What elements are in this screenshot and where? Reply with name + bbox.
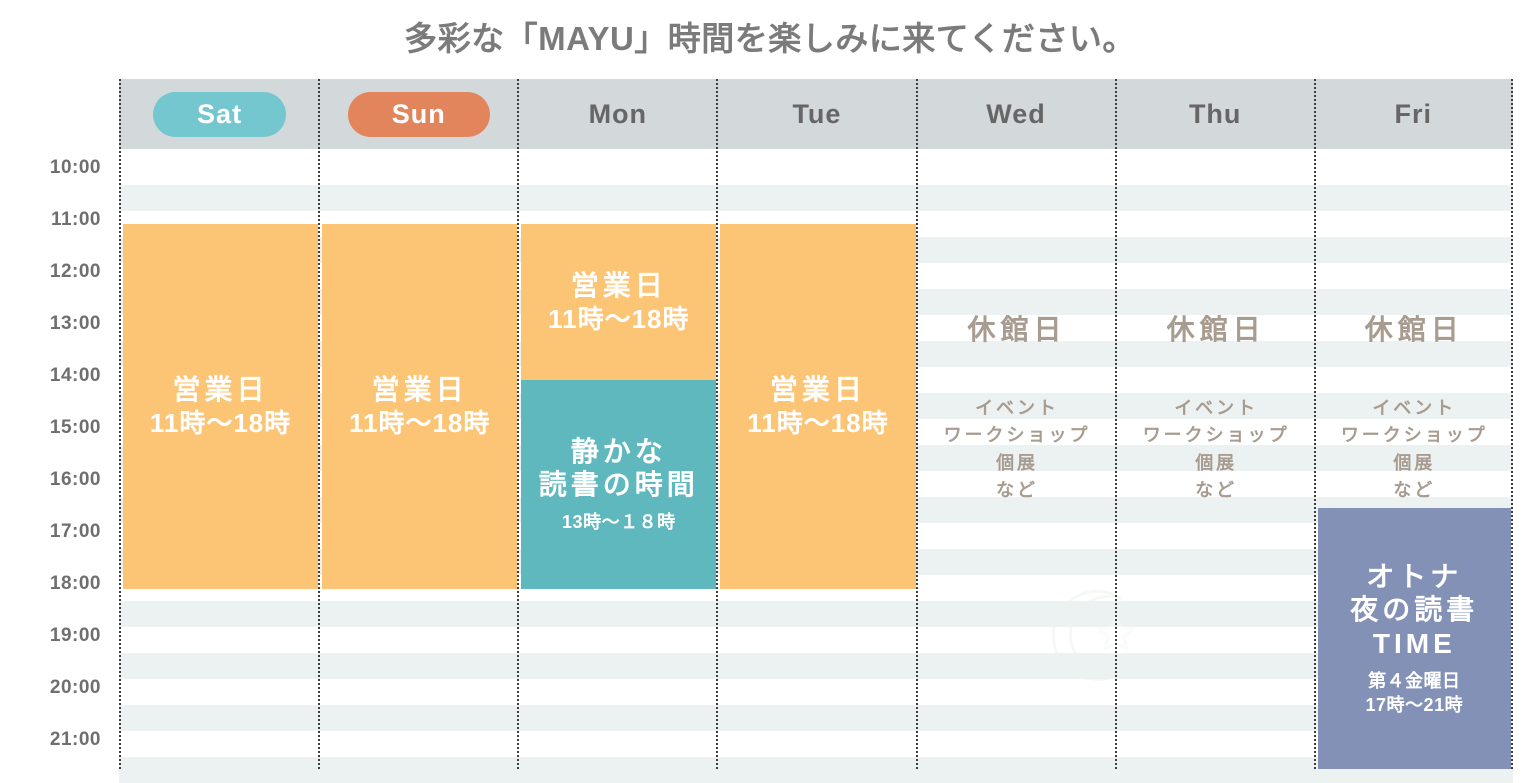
column-header-tue: Tue [718, 79, 915, 149]
day-column-mon[interactable]: Mon 営業日 11時〜18時 静かな 読書の時間 13時〜１８時 [517, 79, 716, 769]
time-label-11: 11:00 [51, 209, 101, 231]
time-label-15: 15:00 [50, 417, 101, 439]
night-reading-line2: 夜の読書 [1350, 593, 1478, 626]
closed-day-wed: 休館日 [920, 316, 1115, 344]
day-label-tue: Tue [792, 99, 841, 130]
activity-line-1: イベント [920, 395, 1115, 422]
day-label-sat: Sat [153, 92, 286, 137]
column-header-mon: Mon [519, 79, 716, 149]
activity-line-1: イベント [1318, 395, 1511, 422]
activity-line-4: など [1318, 477, 1511, 504]
day-label-wed: Wed [986, 99, 1046, 130]
time-label-21: 21:00 [50, 729, 101, 751]
event-block-open-sat[interactable]: 営業日 11時〜18時 [123, 224, 318, 589]
activity-line-4: など [1119, 477, 1314, 504]
quiet-reading-line1: 静かな [571, 435, 667, 468]
activity-line-1: イベント [1119, 395, 1314, 422]
closed-day-title: 休館日 [1119, 316, 1314, 344]
column-header-fri: Fri [1316, 79, 1511, 149]
column-header-thu: Thu [1117, 79, 1314, 149]
time-label-12: 12:00 [50, 261, 101, 283]
time-label-16: 16:00 [50, 469, 101, 491]
night-reading-when: 第４金曜日 [1368, 670, 1461, 693]
open-title: 営業日 [173, 373, 269, 406]
day-label-sun: Sun [348, 92, 490, 137]
column-header-sun: Sun [320, 79, 517, 149]
time-label-17: 17:00 [50, 521, 101, 543]
day-column-tue[interactable]: Tue 営業日 11時〜18時 [716, 79, 915, 769]
open-title: 営業日 [770, 373, 866, 406]
closed-day-title: 休館日 [1318, 316, 1511, 344]
column-header-wed: Wed [918, 79, 1115, 149]
activity-line-3: 個展 [920, 450, 1115, 477]
activity-line-2: ワークショップ [1119, 422, 1314, 449]
closed-day-activities-thu: イベント ワークショップ 個展 など [1119, 395, 1314, 504]
night-reading-line3: TIME [1373, 627, 1456, 660]
activity-line-2: ワークショップ [1318, 422, 1511, 449]
quiet-reading-hours: 13時〜１８時 [562, 511, 676, 534]
page-title: 多彩な「MAYU」時間を楽しみに来てください。 [0, 12, 1540, 60]
quiet-reading-line2: 読書の時間 [539, 468, 699, 501]
day-column-fri[interactable]: Fri 休館日 イベント ワークショップ 個展 など オトナ 夜の読書 TIME… [1314, 79, 1513, 769]
day-column-thu[interactable]: Thu 休館日 イベント ワークショップ 個展 など [1115, 79, 1314, 769]
activity-line-2: ワークショップ [920, 422, 1115, 449]
time-label-14: 14:00 [50, 365, 101, 387]
day-label-thu: Thu [1189, 99, 1241, 130]
night-reading-hours: 17時〜21時 [1366, 694, 1464, 717]
night-reading-line1: オトナ [1366, 560, 1462, 593]
event-block-quiet-reading-mon[interactable]: 静かな 読書の時間 13時〜１８時 [521, 380, 716, 589]
day-label-mon: Mon [589, 99, 647, 130]
event-block-open-tue[interactable]: 営業日 11時〜18時 [720, 224, 915, 589]
time-label-13: 13:00 [50, 313, 101, 335]
time-label-20: 20:00 [50, 677, 101, 699]
event-block-open-mon[interactable]: 営業日 11時〜18時 [521, 224, 716, 380]
day-label-fri: Fri [1395, 99, 1433, 130]
closed-day-title: 休館日 [920, 316, 1115, 344]
open-title: 営業日 [571, 269, 667, 302]
event-block-open-sun[interactable]: 営業日 11時〜18時 [322, 224, 517, 589]
day-column-wed[interactable]: Wed 休館日 イベント ワークショップ 個展 など [916, 79, 1115, 769]
time-axis: 10:00 11:00 12:00 13:00 14:00 15:00 16:0… [0, 79, 115, 769]
open-hours: 11時〜18時 [548, 304, 689, 335]
activity-line-3: 個展 [1119, 450, 1314, 477]
activity-line-3: 個展 [1318, 450, 1511, 477]
closed-day-fri: 休館日 [1318, 316, 1511, 344]
time-label-10: 10:00 [50, 157, 101, 179]
open-hours: 11時〜18時 [150, 408, 291, 439]
closed-day-activities-fri: イベント ワークショップ 個展 など [1318, 395, 1511, 504]
day-column-sun[interactable]: Sun 営業日 11時〜18時 [318, 79, 517, 769]
time-label-18: 18:00 [50, 573, 101, 595]
day-column-sat[interactable]: Sat 営業日 11時〜18時 [119, 79, 318, 769]
day-columns: Sat 営業日 11時〜18時 Sun 営業日 11時〜18時 Mon 営業日 [119, 79, 1513, 769]
activity-line-4: など [920, 477, 1115, 504]
open-hours: 11時〜18時 [349, 408, 490, 439]
event-block-night-reading-fri[interactable]: オトナ 夜の読書 TIME 第４金曜日 17時〜21時 [1318, 508, 1511, 769]
schedule-grid: Sat 営業日 11時〜18時 Sun 営業日 11時〜18時 Mon 営業日 [119, 79, 1513, 769]
time-label-19: 19:00 [50, 625, 101, 647]
open-title: 営業日 [372, 373, 468, 406]
column-header-sat: Sat [121, 79, 318, 149]
closed-day-thu: 休館日 [1119, 316, 1314, 344]
closed-day-activities-wed: イベント ワークショップ 個展 など [920, 395, 1115, 504]
open-hours: 11時〜18時 [747, 408, 888, 439]
